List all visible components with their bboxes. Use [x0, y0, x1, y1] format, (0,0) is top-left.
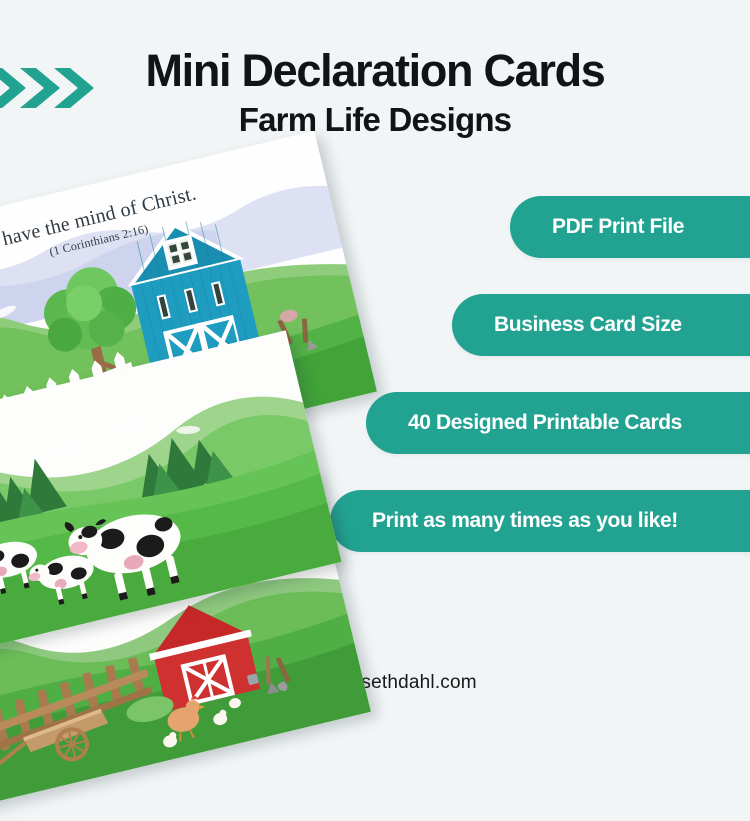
feature-pill-designed-printable-cards[interactable]: 40 Designed Printable Cards: [366, 392, 750, 454]
feature-pill-label: Print as many times as you like!: [372, 509, 678, 533]
feature-pill-label: Business Card Size: [494, 313, 682, 337]
card-preview-stack: sen: [0, 0, 430, 750]
feature-pill-label: 40 Designed Printable Cards: [408, 411, 682, 435]
feature-pill-print-as-many-times[interactable]: Print as many times as you like!: [330, 490, 750, 552]
feature-pill-business-card-size[interactable]: Business Card Size: [452, 294, 750, 356]
feature-pill-label: PDF Print File: [552, 215, 684, 239]
feature-pill-pdf-print-file[interactable]: PDF Print File: [510, 196, 750, 258]
poster-canvas: Mini Declaration Cards Farm Life Designs: [0, 0, 750, 750]
